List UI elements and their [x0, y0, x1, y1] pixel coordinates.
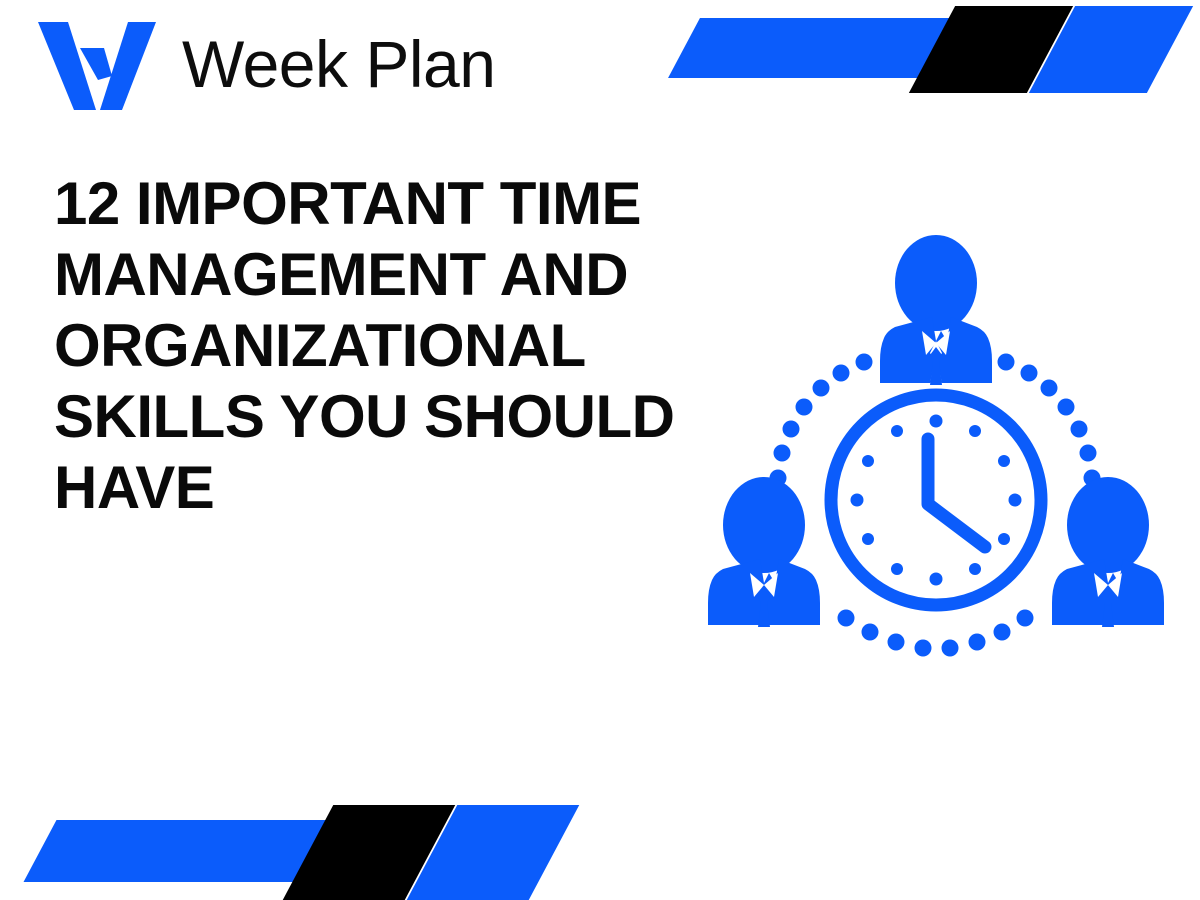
bottom-left-ribbon: [10, 790, 630, 900]
businessperson-icon-top: [880, 235, 992, 385]
top-right-ribbon: [660, 0, 1200, 110]
time-management-team-clock-illustration: [700, 225, 1170, 675]
brand-name: Week Plan: [182, 31, 495, 97]
ribbon-bar-blue-left: [24, 820, 335, 882]
week-plan-w-logo-icon: [34, 18, 160, 110]
clock-icon: [831, 395, 1041, 605]
businessperson-icon-bottom-right: [1052, 477, 1164, 627]
ribbon-bar-blue-left: [668, 18, 958, 78]
brand-lockup: Week Plan: [34, 18, 495, 110]
page-title: 12 IMPORTANT TIME MANAGEMENT AND ORGANIZ…: [54, 168, 734, 523]
businessperson-icon-bottom-left: [708, 477, 820, 627]
cover-canvas: Week Plan 12 IMPORTANT TIME MANAGEMENT A…: [0, 0, 1200, 900]
